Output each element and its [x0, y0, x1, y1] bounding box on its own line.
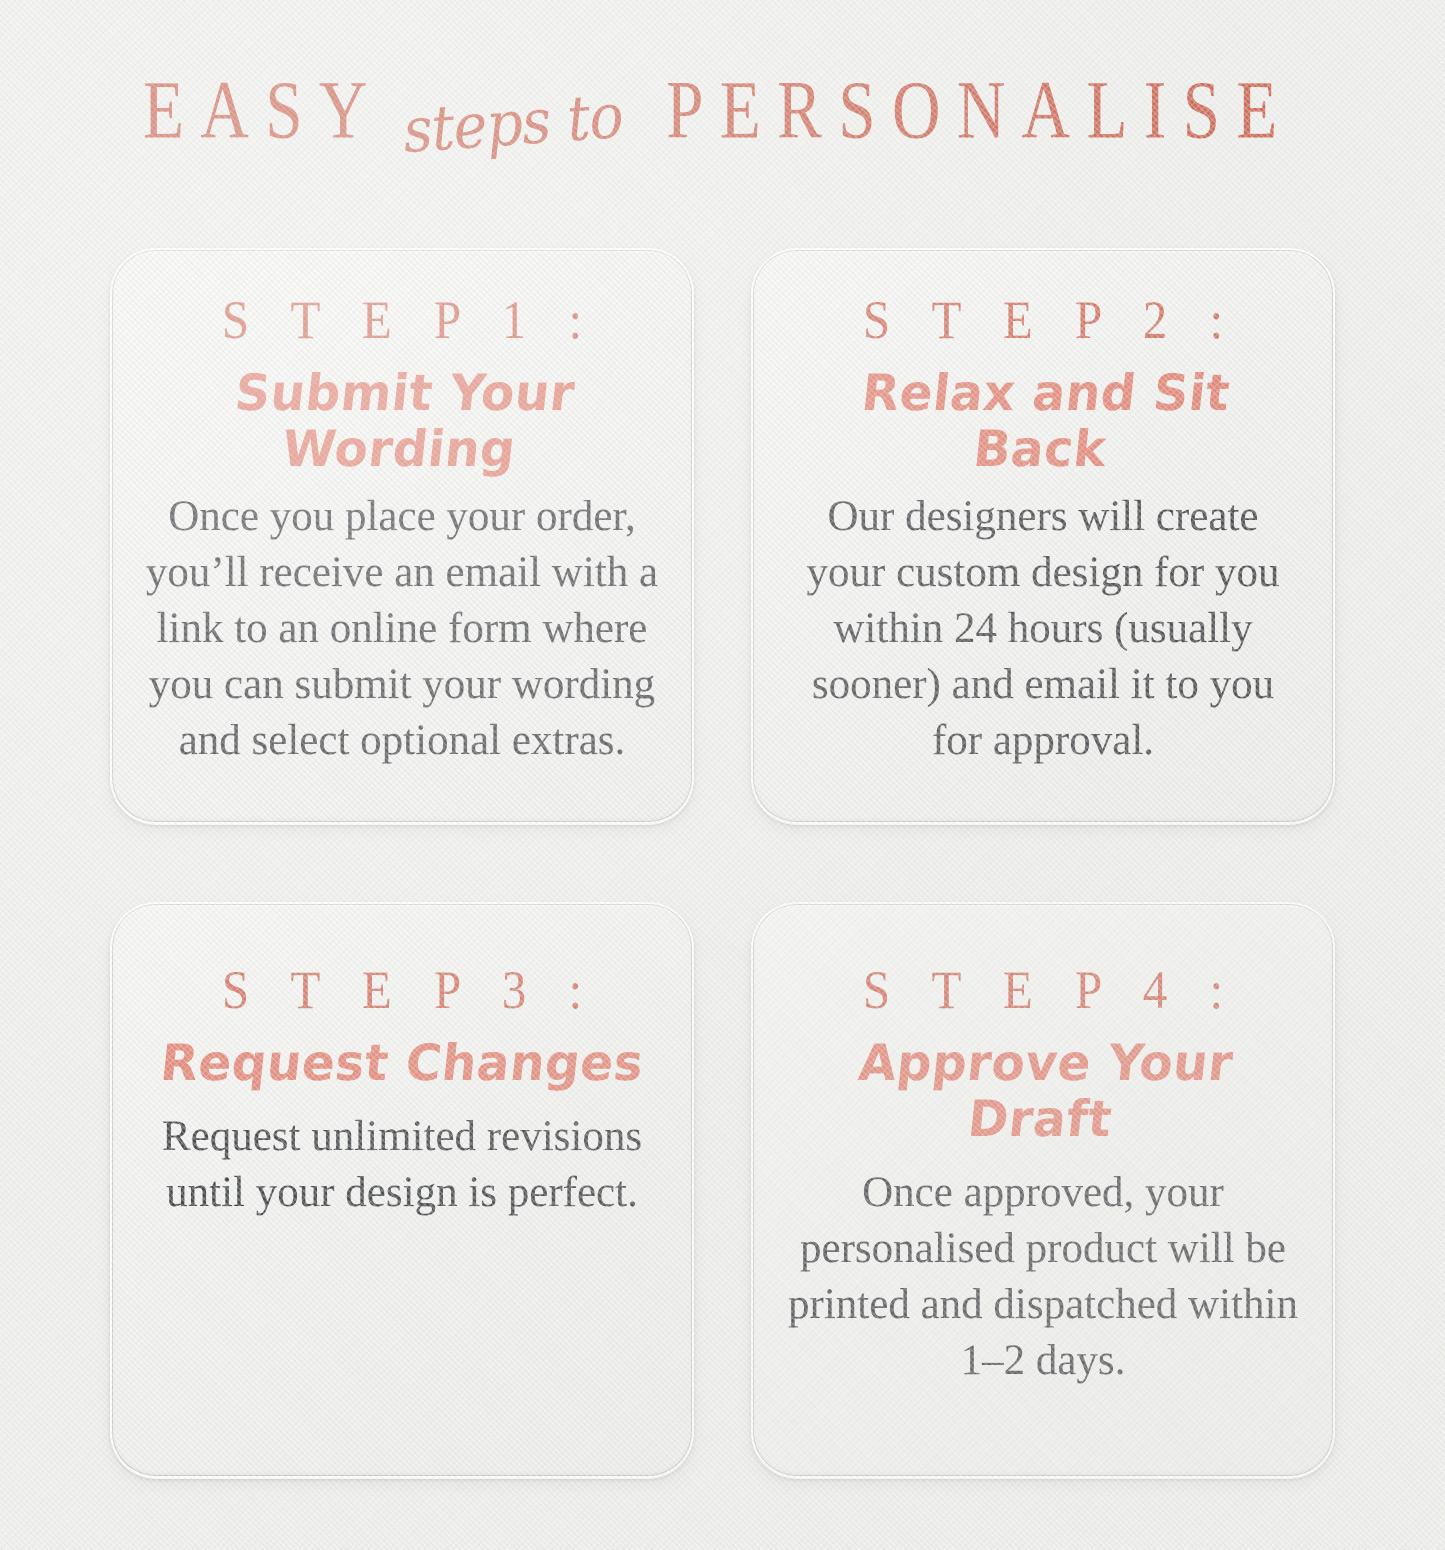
step-3-label: S T E P 3 : [138, 962, 666, 1019]
step-card-2-content: S T E P 2 : Relax and Sit Back Our desig… [779, 292, 1307, 769]
title-line: EASY steps to PERSONALISE [138, 83, 1307, 153]
step-card-2: S T E P 2 : Relax and Sit Back Our desig… [751, 248, 1335, 824]
title-word-easy: EASY [143, 70, 384, 153]
step-card-3: S T E P 3 : Request Changes Request unli… [110, 902, 694, 1478]
page-title: EASY steps to PERSONALISE [0, 0, 1445, 236]
step-card-3-content: S T E P 3 : Request Changes Request unli… [138, 962, 666, 1221]
step-4-label: S T E P 4 : [779, 962, 1307, 1019]
step-1-title: Submit Your Wording [140, 365, 664, 477]
step-card-4-content: S T E P 4 : Approve Your Draft Once appr… [779, 962, 1307, 1389]
title-word-personalise: PERSONALISE [667, 70, 1295, 153]
step-1-body: Once you place your order, you’ll receiv… [144, 489, 660, 768]
step-card-1-content: S T E P 1 : Submit Your Wording Once you… [138, 292, 666, 769]
title-script-steps-to: steps to [395, 84, 642, 163]
step-2-label: S T E P 2 : [779, 292, 1307, 349]
step-2-title: Relax and Sit Back [781, 365, 1305, 477]
step-2-body: Our designers will create your custom de… [785, 489, 1301, 768]
step-4-title: Approve Your Draft [781, 1035, 1305, 1147]
step-3-title: Request Changes [143, 1035, 661, 1091]
step-card-1: S T E P 1 : Submit Your Wording Once you… [110, 248, 694, 824]
step-1-label: S T E P 1 : [138, 292, 666, 349]
step-3-body: Request unlimited revisions until your d… [144, 1109, 660, 1221]
step-4-body: Once approved, your personalised product… [785, 1165, 1301, 1389]
step-card-4: S T E P 4 : Approve Your Draft Once appr… [751, 902, 1335, 1478]
steps-grid: S T E P 1 : Submit Your Wording Once you… [110, 248, 1335, 1483]
